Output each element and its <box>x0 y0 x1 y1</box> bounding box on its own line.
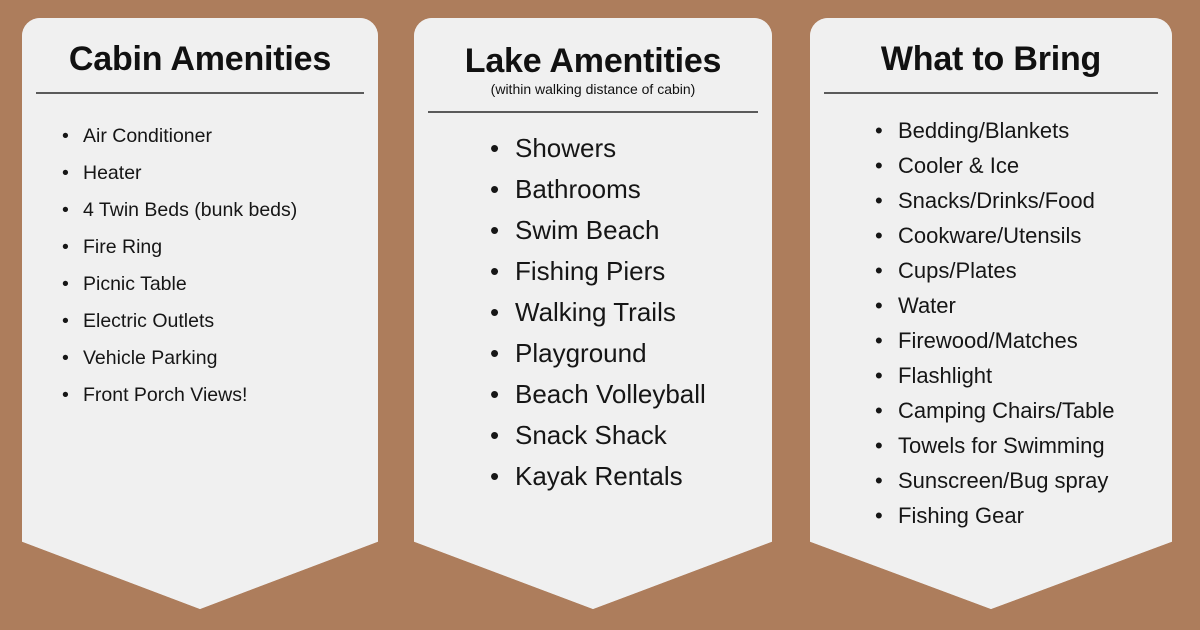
list-item-label: Fishing Gear <box>898 498 1024 533</box>
list-item: • Vehicle Parking <box>62 340 378 377</box>
list-item-label: Fire Ring <box>83 229 162 266</box>
panel-cabin-amenities: Cabin Amenities • Air Conditioner • Heat… <box>22 18 378 609</box>
packing-list: • Bedding/Blankets • Cooler & Ice • Snac… <box>810 113 1172 533</box>
list-item: • Towels for Swimming <box>875 428 1172 463</box>
list-item-label: Vehicle Parking <box>83 340 217 377</box>
bullet-icon: • <box>62 229 69 266</box>
list-item-label: Heater <box>83 155 142 192</box>
bullet-icon: • <box>490 251 499 292</box>
list-item: • Showers <box>490 128 772 169</box>
list-item-label: Walking Trails <box>515 292 676 333</box>
list-item-label: Sunscreen/Bug spray <box>898 463 1108 498</box>
bullet-icon: • <box>875 358 883 393</box>
title-divider <box>428 111 758 113</box>
list-item: • Cooler & Ice <box>875 148 1172 183</box>
list-item-label: Camping Chairs/Table <box>898 393 1114 428</box>
list-item-label: Bathrooms <box>515 169 641 210</box>
list-item: • Camping Chairs/Table <box>875 393 1172 428</box>
panel-title: Lake Amentities <box>414 18 772 80</box>
list-item-label: Flashlight <box>898 358 992 393</box>
panel-lake-amenities: Lake Amentities (within walking distance… <box>414 18 772 609</box>
panel-title: Cabin Amenities <box>22 18 378 78</box>
list-item: • Bathrooms <box>490 169 772 210</box>
list-item-label: Cookware/Utensils <box>898 218 1081 253</box>
bullet-icon: • <box>490 210 499 251</box>
list-item: • Cookware/Utensils <box>875 218 1172 253</box>
list-item: • Flashlight <box>875 358 1172 393</box>
list-item-label: Kayak Rentals <box>515 456 683 497</box>
list-item-label: Towels for Swimming <box>898 428 1105 463</box>
bullet-icon: • <box>490 169 499 210</box>
list-item: • Cups/Plates <box>875 253 1172 288</box>
bullet-icon: • <box>62 303 69 340</box>
panel-subtitle: (within walking distance of cabin) <box>414 82 772 97</box>
bullet-icon: • <box>875 183 883 218</box>
list-item-label: Snack Shack <box>515 415 667 456</box>
panel-content: Cabin Amenities • Air Conditioner • Heat… <box>22 18 378 414</box>
amenities-list: • Showers • Bathrooms • Swim Beach • Fis… <box>414 128 772 497</box>
list-item-label: Water <box>898 288 956 323</box>
bullet-icon: • <box>490 292 499 333</box>
list-item-label: Front Porch Views! <box>83 377 247 414</box>
list-item: • Front Porch Views! <box>62 377 378 414</box>
bullet-icon: • <box>62 155 69 192</box>
bullet-icon: • <box>490 128 499 169</box>
list-item-label: Swim Beach <box>515 210 660 251</box>
bullet-icon: • <box>62 377 69 414</box>
bullet-icon: • <box>875 113 883 148</box>
list-item-label: Showers <box>515 128 616 169</box>
bullet-icon: • <box>875 218 883 253</box>
title-divider <box>36 92 364 94</box>
list-item-label: 4 Twin Beds (bunk beds) <box>83 192 297 229</box>
bullet-icon: • <box>875 323 883 358</box>
list-item-label: Snacks/Drinks/Food <box>898 183 1095 218</box>
bullet-icon: • <box>875 393 883 428</box>
bullet-icon: • <box>875 148 883 183</box>
bullet-icon: • <box>62 266 69 303</box>
list-item-label: Fishing Piers <box>515 251 665 292</box>
bullet-icon: • <box>490 415 499 456</box>
list-item: • Snacks/Drinks/Food <box>875 183 1172 218</box>
bullet-icon: • <box>875 498 883 533</box>
bullet-icon: • <box>875 428 883 463</box>
list-item: • Swim Beach <box>490 210 772 251</box>
list-item: • Snack Shack <box>490 415 772 456</box>
bullet-icon: • <box>62 192 69 229</box>
info-board: Cabin Amenities • Air Conditioner • Heat… <box>0 0 1200 630</box>
bullet-icon: • <box>875 288 883 323</box>
list-item: • Fire Ring <box>62 229 378 266</box>
panel-content: Lake Amentities (within walking distance… <box>414 18 772 497</box>
amenities-list: • Air Conditioner • Heater • 4 Twin Beds… <box>22 118 378 414</box>
bullet-icon: • <box>62 118 69 155</box>
list-item-label: Beach Volleyball <box>515 374 706 415</box>
list-item: • Walking Trails <box>490 292 772 333</box>
list-item-label: Air Conditioner <box>83 118 212 155</box>
list-item: • Playground <box>490 333 772 374</box>
list-item: • Firewood/Matches <box>875 323 1172 358</box>
bullet-icon: • <box>490 374 499 415</box>
list-item: • Fishing Gear <box>875 498 1172 533</box>
list-item-label: Playground <box>515 333 647 374</box>
list-item-label: Bedding/Blankets <box>898 113 1069 148</box>
panel-title: What to Bring <box>810 18 1172 78</box>
list-item-label: Cooler & Ice <box>898 148 1019 183</box>
list-item: • Air Conditioner <box>62 118 378 155</box>
list-item: • Electric Outlets <box>62 303 378 340</box>
list-item: • Water <box>875 288 1172 323</box>
list-item-label: Firewood/Matches <box>898 323 1078 358</box>
list-item: • Fishing Piers <box>490 251 772 292</box>
title-divider <box>824 92 1158 94</box>
bullet-icon: • <box>875 463 883 498</box>
list-item: • Sunscreen/Bug spray <box>875 463 1172 498</box>
panel-content: What to Bring • Bedding/Blankets • Coole… <box>810 18 1172 533</box>
bullet-icon: • <box>875 253 883 288</box>
list-item: • Kayak Rentals <box>490 456 772 497</box>
list-item-label: Electric Outlets <box>83 303 214 340</box>
list-item-label: Picnic Table <box>83 266 187 303</box>
bullet-icon: • <box>490 333 499 374</box>
bullet-icon: • <box>490 456 499 497</box>
panel-what-to-bring: What to Bring • Bedding/Blankets • Coole… <box>810 18 1172 609</box>
list-item: • 4 Twin Beds (bunk beds) <box>62 192 378 229</box>
bullet-icon: • <box>62 340 69 377</box>
list-item: • Heater <box>62 155 378 192</box>
list-item-label: Cups/Plates <box>898 253 1017 288</box>
list-item: • Bedding/Blankets <box>875 113 1172 148</box>
list-item: • Beach Volleyball <box>490 374 772 415</box>
list-item: • Picnic Table <box>62 266 378 303</box>
